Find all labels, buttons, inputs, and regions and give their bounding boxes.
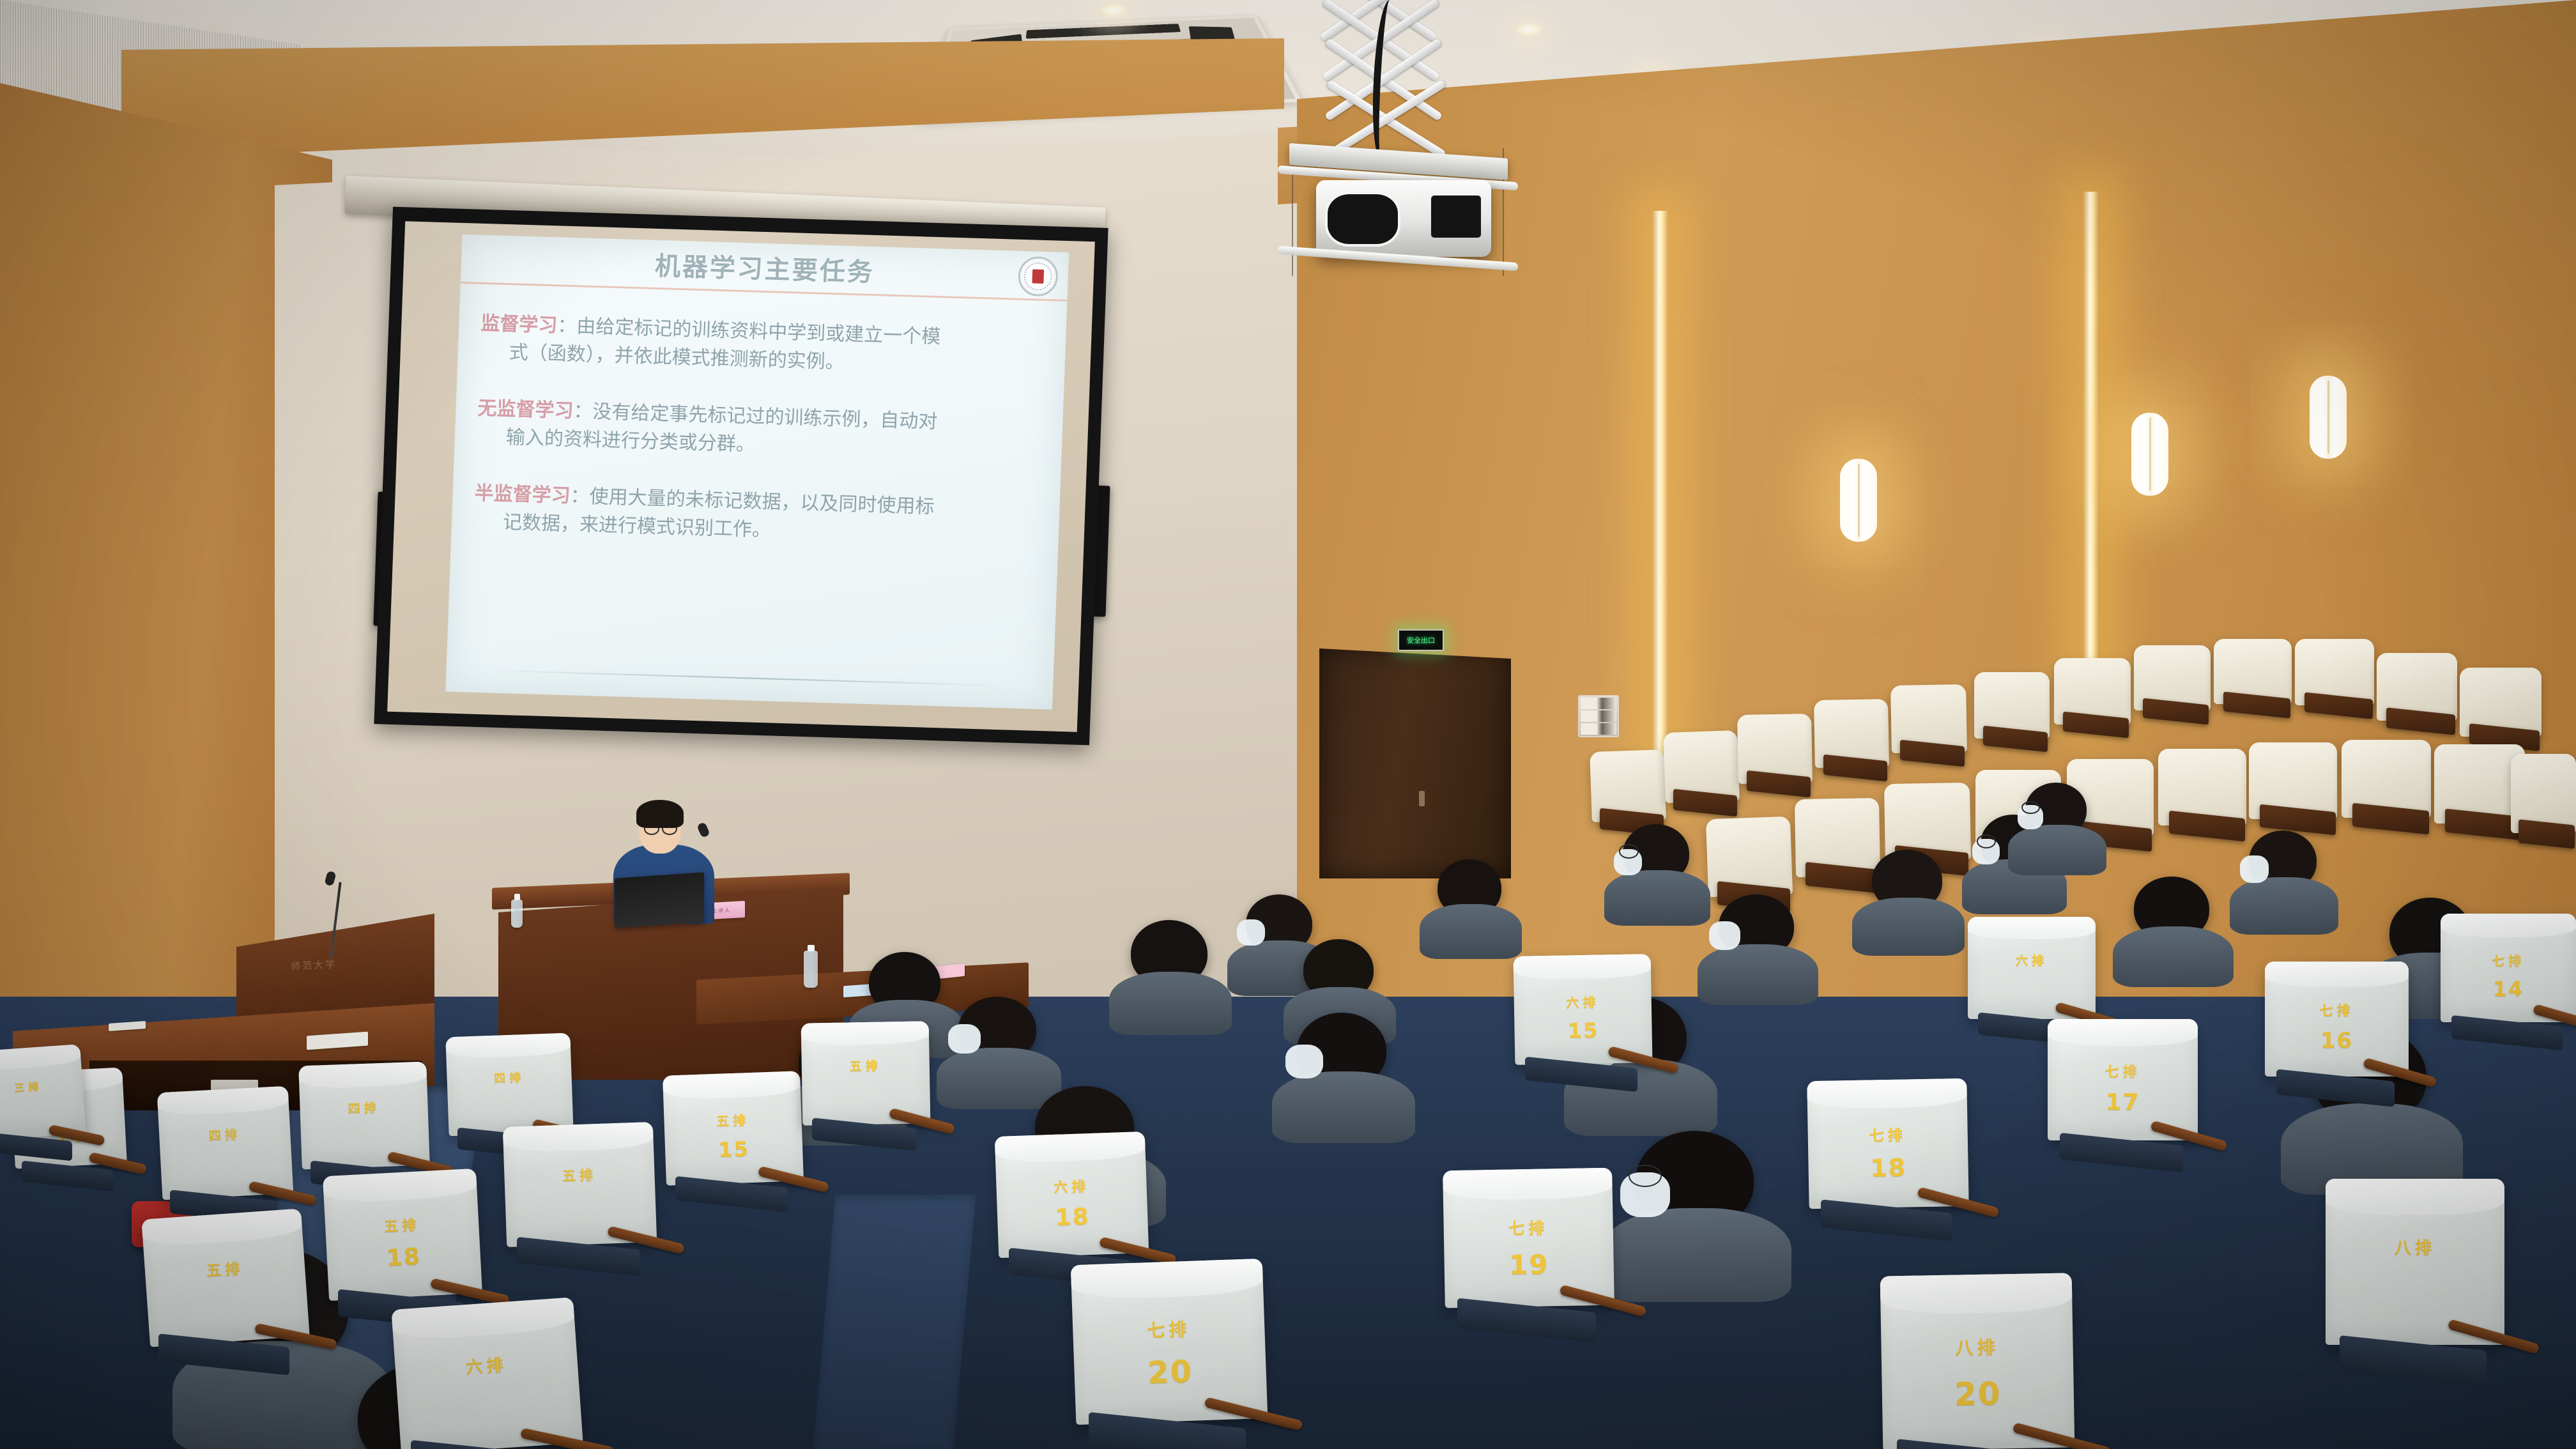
auditorium-seat[interactable]: 六排	[1968, 917, 2096, 1019]
person-torso	[1420, 904, 1522, 959]
auditorium-seat[interactable]: 六排	[391, 1297, 583, 1449]
seat-number-label: 20	[1882, 1374, 2074, 1414]
downlight-icon	[1514, 22, 1544, 37]
person-torso	[2008, 825, 2106, 876]
seat-number-label: 19	[1444, 1247, 1614, 1282]
auditorium-seat[interactable]: 五排	[503, 1122, 657, 1247]
glasses-icon	[1629, 1165, 1662, 1187]
person-torso	[1852, 898, 1965, 956]
seat-row-label: 七排	[1073, 1313, 1265, 1345]
seat-headrest	[1071, 1259, 1264, 1300]
seat-row-label: 五排	[325, 1211, 479, 1239]
panel-switch-row[interactable]	[1581, 710, 1616, 722]
seat-row-label: 七排	[1807, 1122, 1968, 1146]
person-torso	[1604, 870, 1710, 926]
seat-headrest	[2326, 1179, 2504, 1215]
glasses-icon	[1619, 844, 1639, 858]
glasses-icon	[1977, 834, 1997, 848]
seat-headrest	[2265, 962, 2409, 987]
auditorium-seat[interactable]: 八排	[2326, 1179, 2504, 1345]
aisle-carpet	[813, 1195, 976, 1449]
screen-surface: 机器学习主要任务 监督学习：由给定标记的训练资料中学到或建立一个模式（函数），并…	[387, 221, 1095, 732]
seat-row-label: 四排	[159, 1123, 291, 1147]
panel-switch-row[interactable]	[1581, 723, 1616, 735]
seat-row-label: 八排	[1881, 1332, 2073, 1361]
person-torso	[2230, 877, 2338, 934]
seat-row-label: 五排	[504, 1163, 655, 1187]
slide-bullet-term: 监督学习	[480, 312, 558, 337]
slide-title: 机器学习主要任务	[654, 245, 875, 289]
seat-headrest	[1443, 1168, 1613, 1201]
seat-number-label: 20	[1074, 1351, 1267, 1393]
auditorium-seat[interactable]: 六排18	[995, 1131, 1149, 1258]
panel-switch-row[interactable]	[1581, 698, 1616, 709]
seat-row-label: 六排	[996, 1173, 1147, 1199]
lecture-hall-photo: 机器学习主要任务 监督学习：由给定标记的训练资料中学到或建立一个模式（函数），并…	[0, 0, 2576, 1449]
seat-headrest	[995, 1131, 1146, 1163]
seat-number-label: 18	[1808, 1153, 1968, 1183]
auditorium-seat[interactable]: 五排18	[323, 1169, 482, 1301]
seat-row-label: 六排	[1514, 991, 1652, 1012]
seat-headrest	[1514, 954, 1652, 980]
seat-row-label: 五排	[802, 1056, 930, 1075]
seat-headrest	[445, 1033, 571, 1059]
seat-headrest	[503, 1122, 654, 1154]
seat-headrest	[801, 1021, 930, 1046]
university-emblem-icon	[1018, 256, 1059, 297]
auditorium-seat[interactable]: 七排19	[1443, 1168, 1614, 1308]
seat-row-label: 四排	[300, 1097, 428, 1119]
slide-bullet-cont: 输入的资料进行分类或分群。	[476, 422, 1040, 467]
wall-sconce-icon	[1840, 459, 1877, 542]
door-handle[interactable]	[1419, 791, 1425, 806]
side-door[interactable]	[1319, 648, 1511, 878]
seat-row-label: 八排	[2326, 1235, 2504, 1259]
face-mask-icon	[1285, 1045, 1323, 1078]
person-torso	[1602, 1208, 1791, 1302]
seat-number-label: 16	[2265, 1028, 2409, 1054]
auditorium-seat[interactable]: 六排15	[1514, 954, 1653, 1065]
seat-row-label: 六排	[1968, 951, 2096, 969]
seat-number-label: 15	[1514, 1017, 1652, 1044]
slide-bullet: 无监督学习：没有给定事先标记过的训练示例，自动对输入的资料进行分类或分群。	[476, 395, 1041, 467]
auditorium-seat[interactable]: 八排20	[1880, 1273, 2075, 1449]
auditorium-seat[interactable]: 四排	[157, 1086, 294, 1200]
auditorium-seat[interactable]: 三排	[0, 1044, 86, 1141]
projector-vent	[1431, 195, 1481, 238]
ceiling-projector	[1316, 180, 1491, 257]
wall-light-strip	[1652, 211, 1669, 786]
projection-screen: 机器学习主要任务 监督学习：由给定标记的训练资料中学到或建立一个模式（函数），并…	[374, 207, 1108, 746]
seat-number-label: 18	[326, 1241, 481, 1275]
auditorium-seat[interactable]: 四排	[445, 1033, 573, 1137]
seat-headrest	[298, 1062, 427, 1089]
auditorium-seat[interactable]: 七排16	[2265, 962, 2409, 1077]
auditorium-seat[interactable]: 七排20	[1071, 1259, 1268, 1425]
person-torso	[1698, 944, 1818, 1005]
lecturer-laptop	[615, 872, 704, 928]
seat-row-label: 五排	[144, 1252, 305, 1284]
seat-headrest	[0, 1044, 81, 1071]
face-mask-icon	[1237, 919, 1265, 946]
auditorium-seat[interactable]: 四排	[298, 1062, 430, 1170]
wall-light-strip	[2083, 192, 2099, 716]
downlight-icon	[1099, 3, 1128, 18]
slide-divider	[495, 670, 1005, 687]
seat-row-label: 七排	[2048, 1061, 2198, 1081]
lectern-engraving: 师范大学	[290, 957, 337, 973]
slide-bullet-cont: 式（函数），并依此模式推测新的实例。	[479, 337, 1043, 382]
seat-row-label: 六排	[395, 1347, 578, 1383]
seat-headrest	[1968, 917, 2096, 939]
face-mask-icon	[1709, 921, 1741, 950]
lecturer-hair	[636, 800, 684, 828]
face-mask-icon	[2240, 855, 2269, 882]
seat-number-label: 14	[2441, 977, 2576, 1001]
person-torso	[937, 1048, 1061, 1110]
seat-headrest	[663, 1071, 801, 1100]
person-torso	[2113, 926, 2234, 987]
presentation-slide: 机器学习主要任务 监督学习：由给定标记的训练资料中学到或建立一个模式（函数），并…	[445, 234, 1069, 710]
slide-body: 监督学习：由给定标记的训练资料中学到或建立一个模式（函数），并依此模式推测新的实…	[451, 284, 1067, 553]
projector-lens-icon	[1325, 192, 1400, 247]
seat-headrest	[2048, 1019, 2198, 1046]
water-bottle	[511, 900, 523, 928]
auditorium-seat[interactable]: 五排	[801, 1021, 931, 1125]
seat-number-label: 18	[997, 1202, 1148, 1233]
seat-row-label: 七排	[2265, 1000, 2409, 1020]
wall-sconce-icon	[2131, 413, 2168, 496]
face-mask-icon	[948, 1024, 981, 1054]
auditorium-seat[interactable]: 七排14	[2441, 914, 2576, 1022]
person-torso	[1109, 972, 1232, 1035]
seat-row-label: 七排	[1443, 1215, 1613, 1241]
slide-bullet: 监督学习：由给定标记的训练资料中学到或建立一个模式（函数），并依此模式推测新的实…	[479, 310, 1045, 382]
wall-sconce-icon	[2310, 376, 2347, 459]
person-torso	[1272, 1071, 1415, 1143]
slide-bullet-cont: 记数据，来进行模式识别工作。	[473, 507, 1037, 552]
auditorium-seat[interactable]: 五排	[141, 1209, 309, 1347]
auditorium-seat[interactable]: 七排17	[2048, 1019, 2198, 1140]
seat-headrest	[1880, 1273, 2073, 1314]
wall-control-panel[interactable]	[1578, 695, 1619, 737]
seat-row-label: 五排	[664, 1108, 802, 1131]
seat-number-label: 15	[665, 1135, 803, 1163]
water-bottle	[804, 951, 818, 988]
ac-louver	[1025, 24, 1181, 39]
seat-row-label: 四排	[447, 1066, 572, 1087]
seat-row-label: 三排	[0, 1075, 83, 1098]
emergency-exit-sign-icon: 安全出口	[1398, 629, 1444, 651]
slide-bullet-term: 半监督学习	[474, 482, 571, 507]
auditorium-seat[interactable]: 五排15	[663, 1071, 804, 1185]
seat-row-label: 七排	[2441, 951, 2576, 969]
slide-bullet-term: 无监督学习	[477, 397, 574, 422]
seat-headrest	[2441, 914, 2576, 937]
slide-bullet: 半监督学习：使用大量的未标记数据，以及同时使用标记数据，来进行模式识别工作。	[473, 480, 1038, 552]
seat-headrest	[1807, 1078, 1967, 1109]
exit-sign-text: 安全出口	[1407, 635, 1435, 645]
auditorium-seat[interactable]: 七排18	[1807, 1078, 1968, 1209]
seat-number-label: 17	[2048, 1089, 2198, 1115]
